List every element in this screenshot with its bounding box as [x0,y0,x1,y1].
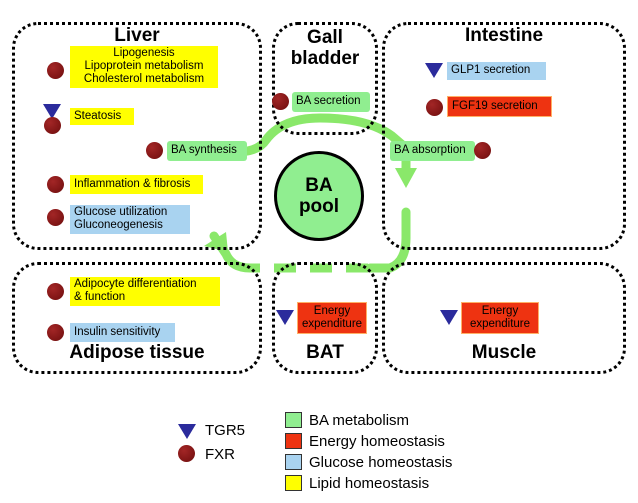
legend-label-glucose-homeostasis: Glucose homeostasis [309,454,452,471]
fxr-marker [426,99,443,116]
legend-row-energy-homeostasis: Energy homeostasis [285,431,452,451]
fxr-marker [47,324,64,341]
panel-intestine [382,22,626,250]
liver-entry-glucose-metabolism: Glucose utilization Gluconeogenesis [70,205,190,234]
liver-entry-steatosis: Steatosis [70,108,134,125]
liver-entry-ba-synthesis: BA synthesis [167,141,247,161]
panel-muscle-title: Muscle [382,343,626,364]
tgr5-icon [178,424,196,439]
fxr-marker [146,142,163,159]
legend-row-ba-metabolism: BA metabolism [285,410,452,430]
fxr-marker [47,209,64,226]
panel-liver-title: Liver [12,26,262,47]
fxr-marker [272,93,289,110]
liver-entry-inflammation-fibrosis: Inflammation & fibrosis [70,175,203,194]
adipose-entry-insulin-sensitivity: Insulin sensitivity [70,323,175,342]
panel-bat-title: BAT [272,343,378,364]
legend-row-glucose-homeostasis: Glucose homeostasis [285,452,452,472]
panel-intestine-title: Intestine [382,26,626,47]
swatch-energy-homeostasis [285,433,302,449]
legend-row-lipid-homeostasis: Lipid homeostasis [285,473,452,493]
intestine-entry-glp1-secretion: GLP1 secretion [447,62,546,80]
bat-entry-energy-expenditure: Energy expenditure [297,302,367,334]
intestine-entry-fgf19-secretion: FGF19 secretion [447,96,552,117]
ba-pool-node: BA pool [274,151,364,241]
tgr5-marker [425,63,443,78]
tgr5-marker [440,310,458,325]
legend-label-fxr: FXR [205,446,235,463]
panel-gall-bladder-title: Gall bladder [272,28,378,69]
liver-entry-lipid-metabolism: Lipogenesis Lipoprotein metabolism Chole… [70,46,218,88]
fxr-marker [47,283,64,300]
figure-canvas: Liver Lipogenesis Lipoprotein metabolism… [0,0,638,503]
legend-label-tgr5: TGR5 [205,422,245,439]
legend-categories: BA metabolism Energy homeostasis Glucose… [285,410,452,494]
gall-bladder-entry-ba-secretion: BA secretion [292,92,370,112]
legend-label-ba-metabolism: BA metabolism [309,412,409,429]
swatch-glucose-homeostasis [285,454,302,470]
fxr-marker [47,176,64,193]
adipose-entry-adipocyte-differentiation: Adipocyte differentiation & function [70,277,220,306]
swatch-lipid-homeostasis [285,475,302,491]
legend-label-lipid-homeostasis: Lipid homeostasis [309,475,429,492]
fxr-marker [474,142,491,159]
muscle-entry-energy-expenditure: Energy expenditure [461,302,539,334]
fxr-icon [178,445,195,462]
panel-adipose-tissue-title: Adipose tissue [12,343,262,364]
intestine-entry-ba-absorption: BA absorption [390,141,475,161]
fxr-marker [44,117,61,134]
legend-label-energy-homeostasis: Energy homeostasis [309,433,445,450]
tgr5-marker [276,310,294,325]
fxr-marker [47,62,64,79]
swatch-ba-metabolism [285,412,302,428]
